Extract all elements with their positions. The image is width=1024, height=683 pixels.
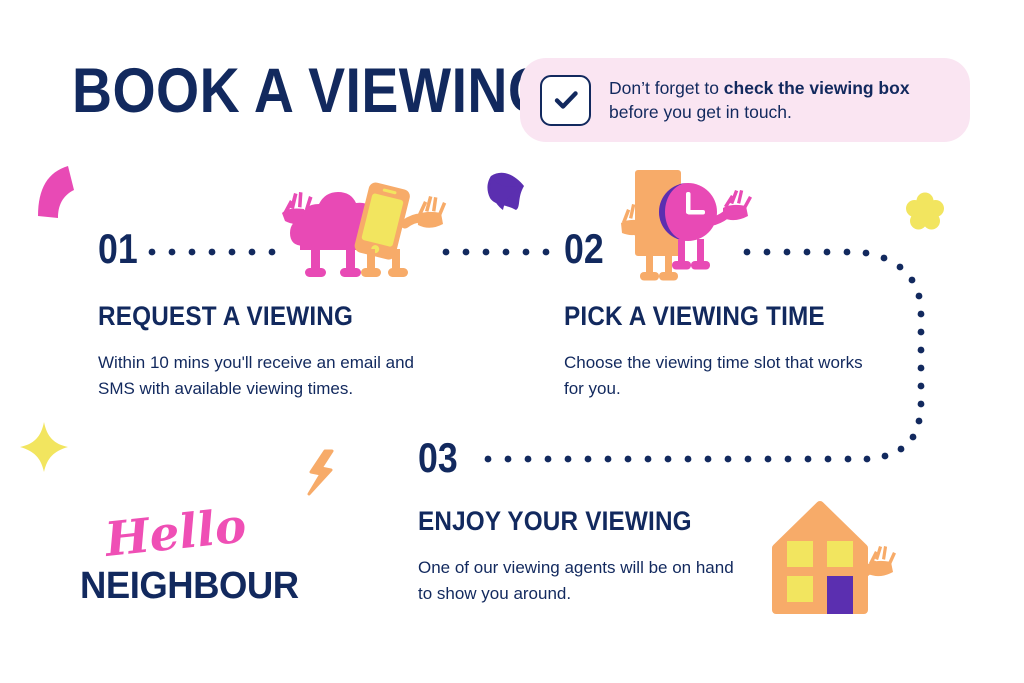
pink-swoosh-icon bbox=[38, 166, 74, 218]
brand-logo: Hello NEIGHBOUR bbox=[80, 518, 280, 618]
step-01-body: Within 10 mins you'll receive an email a… bbox=[98, 350, 428, 402]
check-icon bbox=[552, 86, 580, 114]
step-01-number: 01 bbox=[98, 228, 138, 270]
phone-character-illustration bbox=[353, 181, 446, 277]
orange-lightning-bolt-icon bbox=[309, 451, 332, 494]
callout-text-suffix: before you get in touch. bbox=[609, 102, 792, 122]
step-03-heading: ENJOY YOUR VIEWING bbox=[418, 507, 692, 535]
house-illustration bbox=[776, 505, 896, 614]
infographic-canvas: BOOK A VIEWING Don’t forget to check the… bbox=[0, 0, 1024, 683]
step-03-number: 03 bbox=[418, 437, 458, 479]
callout-text: Don’t forget to check the viewing box be… bbox=[609, 76, 950, 124]
callout-text-prefix: Don’t forget to bbox=[609, 78, 724, 98]
step-03-body: One of our viewing agents will be on han… bbox=[418, 555, 748, 607]
logo-block-word: NEIGHBOUR bbox=[80, 566, 299, 606]
step-01: 01 REQUEST A VIEWING Within 10 mins you'… bbox=[98, 228, 145, 270]
callout-text-bold: check the viewing box bbox=[724, 78, 910, 98]
door-character-illustration bbox=[621, 170, 681, 281]
cloud-character-illustration bbox=[282, 192, 387, 277]
dotted-connector-01-to-02 bbox=[149, 249, 550, 256]
yellow-flower-icon bbox=[906, 193, 944, 230]
step-02-heading: PICK A VIEWING TIME bbox=[564, 302, 825, 330]
viewing-box-callout: Don’t forget to check the viewing box be… bbox=[520, 58, 970, 142]
step-01-heading: REQUEST A VIEWING bbox=[98, 302, 353, 330]
step-02-number: 02 bbox=[564, 228, 604, 270]
purple-arrow-icon bbox=[487, 173, 524, 210]
logo-script-word: Hello bbox=[103, 501, 249, 566]
step-02: 02 PICK A VIEWING TIME Choose the viewin… bbox=[564, 228, 611, 270]
step-02-body: Choose the viewing time slot that works … bbox=[564, 350, 874, 402]
yellow-sparkle-icon bbox=[20, 422, 68, 472]
page-title: BOOK A VIEWING bbox=[72, 60, 551, 122]
clock-character-illustration bbox=[659, 183, 752, 270]
step-03: 03 ENJOY YOUR VIEWING One of our viewing… bbox=[418, 437, 465, 479]
viewing-checkbox[interactable] bbox=[540, 75, 591, 126]
